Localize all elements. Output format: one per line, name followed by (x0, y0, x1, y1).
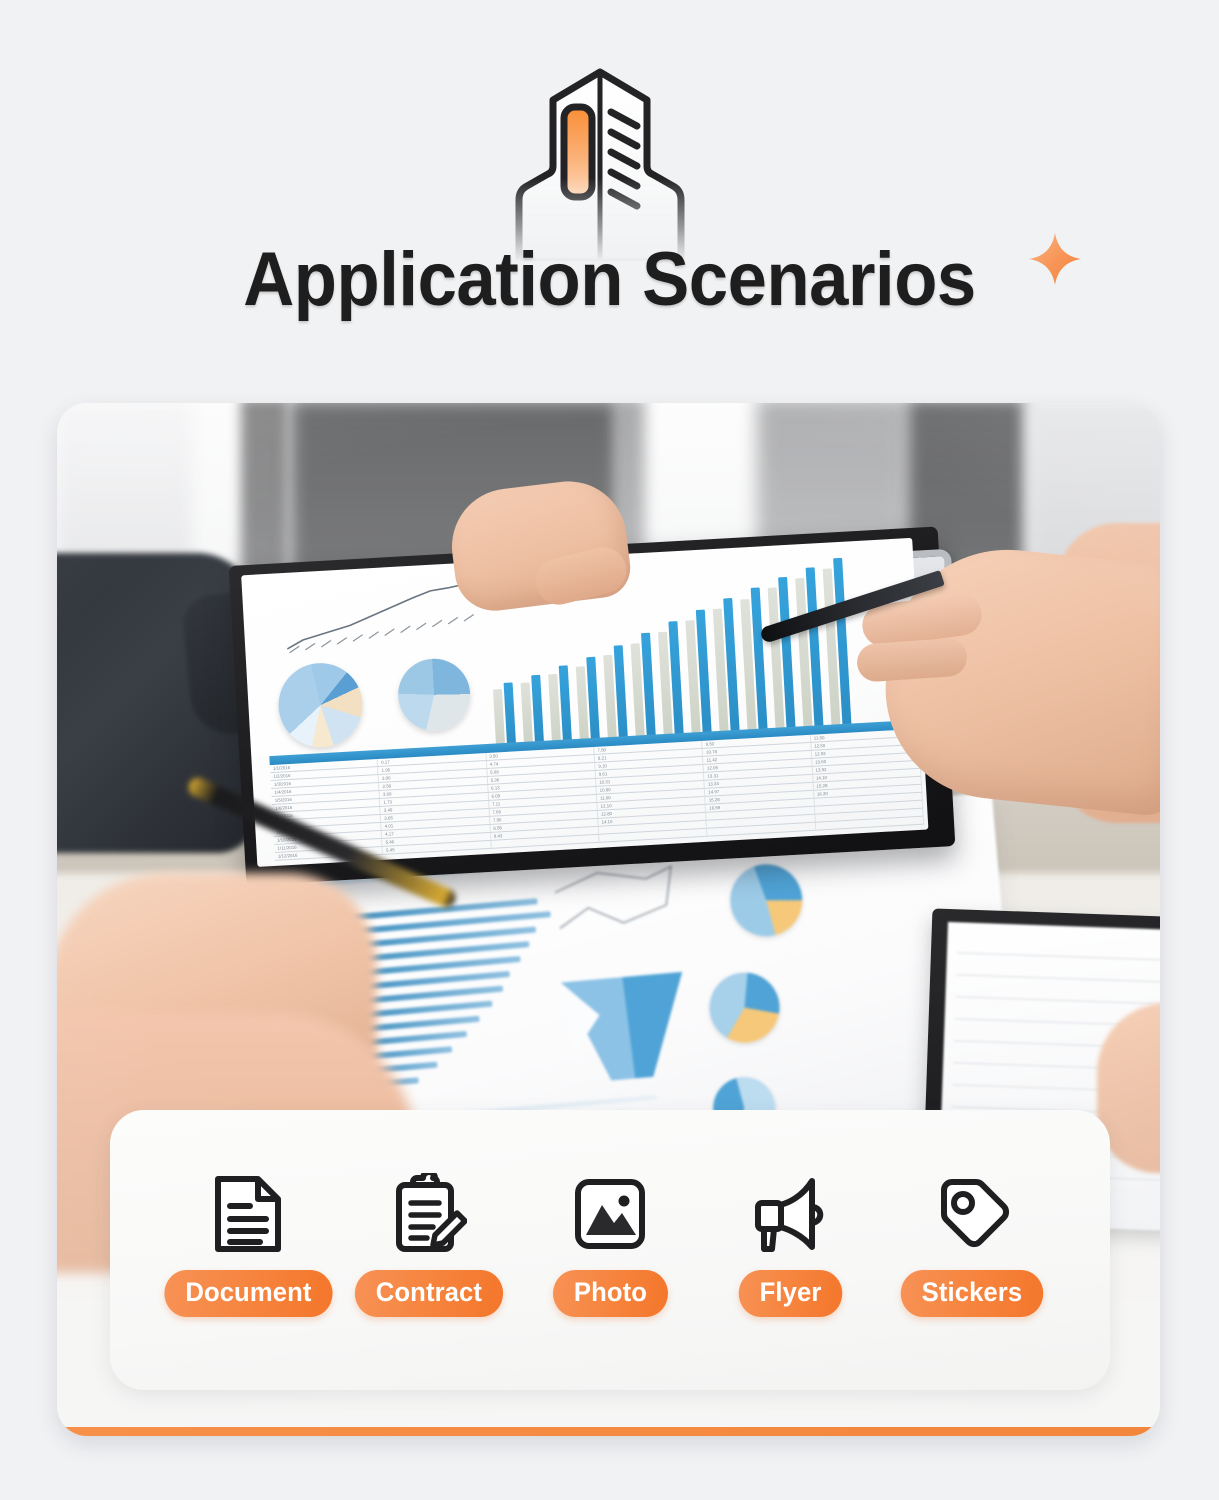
orange-accent-bar (57, 1427, 1160, 1436)
finger (856, 637, 968, 683)
scenario-label: Stickers (901, 1270, 1043, 1317)
document-icon (206, 1172, 290, 1256)
pie-chart (707, 970, 783, 1046)
megaphone-icon (749, 1172, 833, 1256)
funnel-chart (556, 968, 695, 1089)
pie-chart (396, 657, 472, 733)
page-title: Application Scenarios (43, 237, 1177, 323)
contract-icon (387, 1172, 471, 1256)
scenario-label: Photo (553, 1270, 668, 1317)
pie-chart (276, 661, 365, 750)
scenario-label: Document (164, 1270, 332, 1317)
sparkle-icon (1026, 230, 1084, 288)
scenario-item-stickers[interactable]: Stickers (882, 1172, 1062, 1317)
photo-icon (568, 1172, 652, 1256)
scenario-item-photo[interactable]: Photo (520, 1172, 700, 1317)
network-diagram (545, 859, 691, 951)
scenario-panel: Document Contract (110, 1110, 1110, 1390)
scenario-item-flyer[interactable]: Flyer (701, 1172, 881, 1317)
page-header: Application Scenarios (0, 0, 1219, 390)
building-icon (495, 62, 705, 262)
pie-chart (727, 861, 805, 939)
scenario-label: Flyer (739, 1270, 843, 1317)
scenario-item-document[interactable]: Document (158, 1172, 338, 1317)
scenario-item-contract[interactable]: Contract (339, 1172, 519, 1317)
tag-icon (930, 1172, 1014, 1256)
scenario-label: Contract (355, 1270, 503, 1317)
